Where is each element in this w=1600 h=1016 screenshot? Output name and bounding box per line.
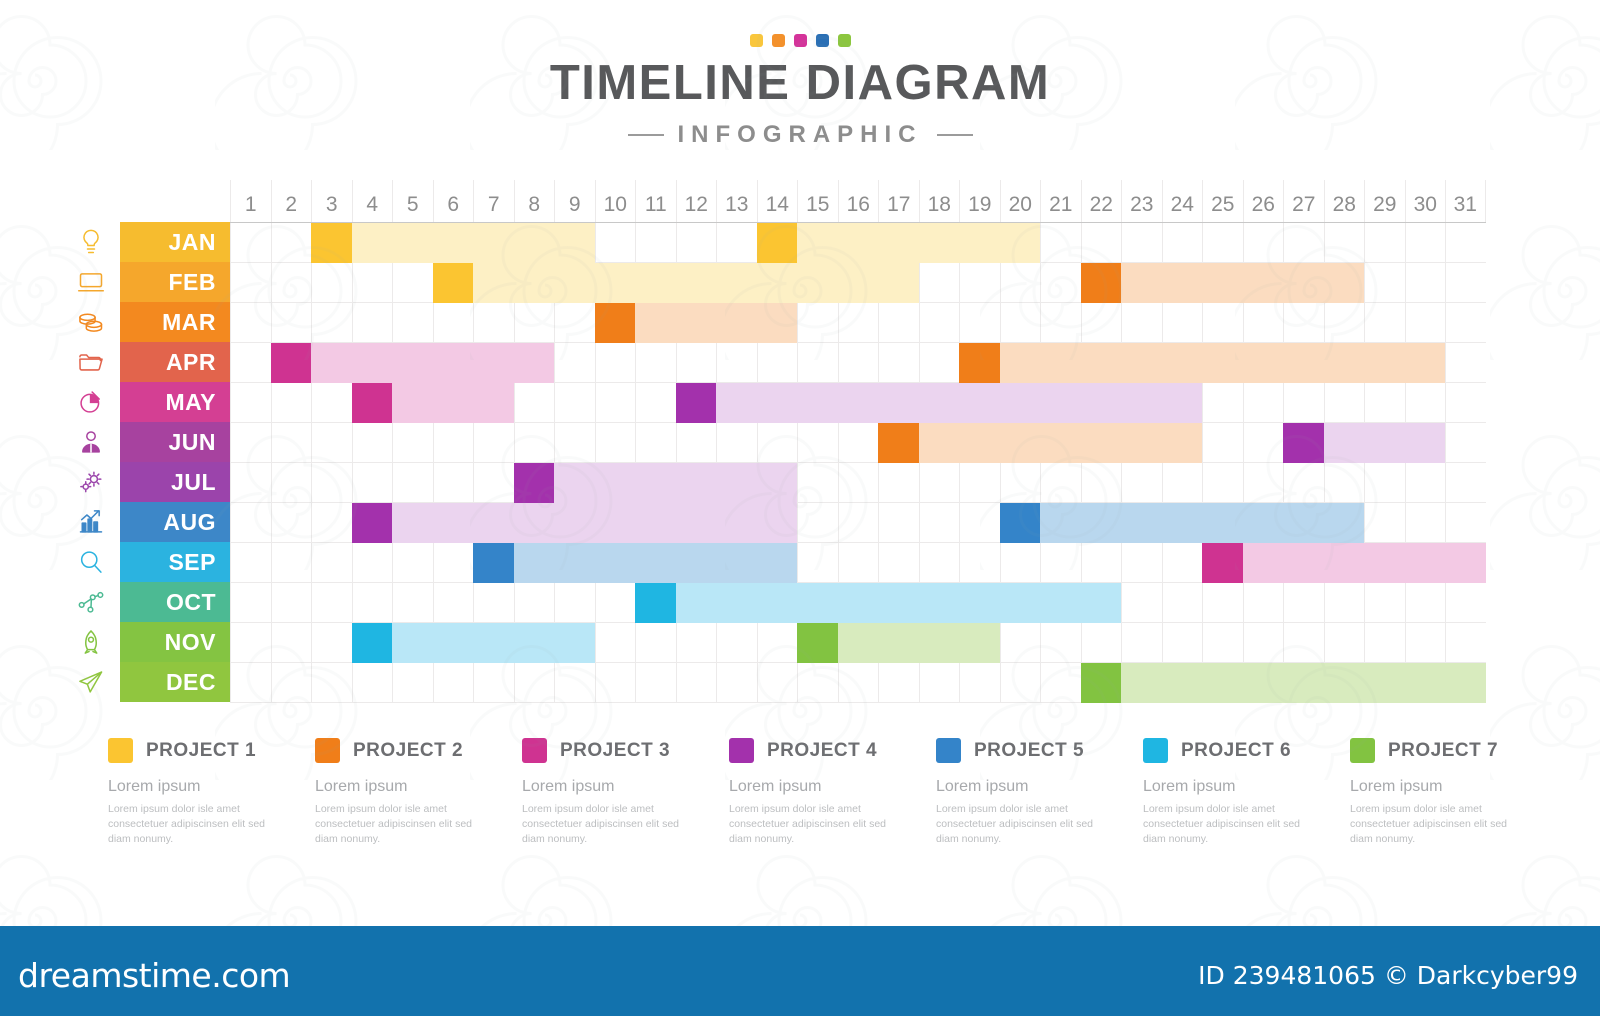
grid-cell[interactable] (757, 543, 798, 583)
grid-cell[interactable] (1445, 303, 1486, 343)
grid-cell[interactable] (1324, 663, 1365, 703)
grid-cell[interactable] (1081, 223, 1122, 263)
grid-cell[interactable] (1243, 463, 1284, 503)
grid-cell[interactable] (311, 503, 352, 543)
grid-cell[interactable] (959, 263, 1000, 303)
grid-cell[interactable] (392, 423, 433, 463)
grid-cell[interactable] (352, 223, 393, 263)
grid-cell[interactable] (676, 383, 717, 423)
grid-cell[interactable] (757, 303, 798, 343)
grid-cell[interactable] (595, 583, 636, 623)
grid-cell[interactable] (230, 463, 271, 503)
grid-cell[interactable] (433, 343, 474, 383)
grid-cell[interactable] (1405, 663, 1446, 703)
grid-cell[interactable] (1243, 343, 1284, 383)
grid-cell[interactable] (392, 303, 433, 343)
grid-cell[interactable] (1202, 383, 1243, 423)
grid-cell[interactable] (716, 463, 757, 503)
grid-cell[interactable] (433, 663, 474, 703)
grid-cell[interactable] (230, 263, 271, 303)
grid-cell[interactable] (230, 663, 271, 703)
grid-cell[interactable] (1202, 263, 1243, 303)
grid-cell[interactable] (1283, 343, 1324, 383)
grid-cell[interactable] (838, 423, 879, 463)
grid-cell[interactable] (1202, 223, 1243, 263)
grid-cell[interactable] (1364, 463, 1405, 503)
grid-cell[interactable] (514, 223, 555, 263)
grid-cell[interactable] (352, 663, 393, 703)
grid-cell[interactable] (716, 503, 757, 543)
grid-cell[interactable] (1405, 303, 1446, 343)
grid-cell[interactable] (473, 463, 514, 503)
grid-cell[interactable] (392, 223, 433, 263)
grid-cell[interactable] (1040, 383, 1081, 423)
grid-cell[interactable] (797, 303, 838, 343)
grid-cell[interactable] (311, 343, 352, 383)
grid-cell[interactable] (1202, 503, 1243, 543)
grid-cell[interactable] (595, 463, 636, 503)
grid-cell[interactable] (352, 383, 393, 423)
grid-cell[interactable] (1081, 383, 1122, 423)
grid-cell[interactable] (554, 623, 595, 663)
grid-cell[interactable] (1000, 463, 1041, 503)
grid-cell[interactable] (1081, 623, 1122, 663)
grid-cell[interactable] (230, 223, 271, 263)
grid-cell[interactable] (1121, 263, 1162, 303)
grid-cell[interactable] (554, 303, 595, 343)
grid-cell[interactable] (919, 423, 960, 463)
grid-cell[interactable] (1162, 583, 1203, 623)
grid-cell[interactable] (878, 583, 919, 623)
grid-cell[interactable] (1040, 543, 1081, 583)
grid-cell[interactable] (1324, 303, 1365, 343)
grid-cell[interactable] (352, 623, 393, 663)
grid-cell[interactable] (230, 503, 271, 543)
grid-cell[interactable] (1121, 423, 1162, 463)
grid-cell[interactable] (797, 583, 838, 623)
grid-cell[interactable] (271, 423, 312, 463)
grid-cell[interactable] (1283, 583, 1324, 623)
grid-cell[interactable] (676, 343, 717, 383)
grid-cell[interactable] (473, 303, 514, 343)
grid-cell[interactable] (676, 663, 717, 703)
grid-cell[interactable] (1081, 583, 1122, 623)
grid-cell[interactable] (595, 623, 636, 663)
grid-cell[interactable] (1324, 263, 1365, 303)
grid-cell[interactable] (1081, 423, 1122, 463)
grid-cell[interactable] (271, 303, 312, 343)
grid-cell[interactable] (878, 263, 919, 303)
legend-item-1[interactable]: PROJECT 1Lorem ipsumLorem ipsum dolor is… (108, 738, 315, 848)
grid-cell[interactable] (230, 423, 271, 463)
grid-cell[interactable] (473, 503, 514, 543)
grid-cell[interactable] (716, 663, 757, 703)
grid-cell[interactable] (1324, 503, 1365, 543)
grid-cell[interactable] (1364, 503, 1405, 543)
grid-cell[interactable] (1121, 383, 1162, 423)
grid-cell[interactable] (473, 383, 514, 423)
grid-cell[interactable] (797, 223, 838, 263)
grid-cell[interactable] (1081, 343, 1122, 383)
grid-cell[interactable] (1202, 663, 1243, 703)
grid-cell[interactable] (514, 263, 555, 303)
grid-cell[interactable] (271, 223, 312, 263)
grid-cell[interactable] (1324, 543, 1365, 583)
grid-cell[interactable] (757, 463, 798, 503)
grid-cell[interactable] (311, 583, 352, 623)
grid-cell[interactable] (271, 383, 312, 423)
grid-cell[interactable] (433, 383, 474, 423)
grid-cell[interactable] (1121, 343, 1162, 383)
grid-cell[interactable] (838, 303, 879, 343)
grid-cell[interactable] (595, 383, 636, 423)
grid-cell[interactable] (473, 583, 514, 623)
grid-cell[interactable] (1121, 583, 1162, 623)
grid-cell[interactable] (838, 503, 879, 543)
grid-cell[interactable] (716, 223, 757, 263)
grid-cell[interactable] (433, 263, 474, 303)
grid-cell[interactable] (838, 463, 879, 503)
grid-cell[interactable] (878, 503, 919, 543)
grid-cell[interactable] (554, 423, 595, 463)
grid-cell[interactable] (1202, 463, 1243, 503)
grid-cell[interactable] (1324, 623, 1365, 663)
grid-cell[interactable] (1445, 503, 1486, 543)
grid-cell[interactable] (1121, 663, 1162, 703)
grid-cell[interactable] (878, 543, 919, 583)
grid-cell[interactable] (433, 583, 474, 623)
grid-cell[interactable] (1000, 343, 1041, 383)
grid-cell[interactable] (514, 303, 555, 343)
grid-cell[interactable] (595, 503, 636, 543)
grid-cell[interactable] (635, 463, 676, 503)
grid-cell[interactable] (959, 303, 1000, 343)
grid-cell[interactable] (1445, 583, 1486, 623)
grid-cell[interactable] (1081, 463, 1122, 503)
grid-cell[interactable] (554, 583, 595, 623)
grid-cell[interactable] (392, 463, 433, 503)
grid-cell[interactable] (635, 223, 676, 263)
grid-cell[interactable] (554, 463, 595, 503)
grid-cell[interactable] (1202, 303, 1243, 343)
grid-cell[interactable] (959, 463, 1000, 503)
grid-cell[interactable] (797, 343, 838, 383)
grid-cell[interactable] (757, 623, 798, 663)
grid-cell[interactable] (1283, 223, 1324, 263)
grid-cell[interactable] (1405, 223, 1446, 263)
grid-cell[interactable] (514, 583, 555, 623)
grid-cell[interactable] (797, 543, 838, 583)
grid-cell[interactable] (1445, 343, 1486, 383)
grid-cell[interactable] (554, 543, 595, 583)
grid-cell[interactable] (1283, 543, 1324, 583)
grid-cell[interactable] (1405, 423, 1446, 463)
legend-item-6[interactable]: PROJECT 6Lorem ipsumLorem ipsum dolor is… (1143, 738, 1350, 848)
grid-cell[interactable] (1202, 583, 1243, 623)
grid-cell[interactable] (635, 423, 676, 463)
grid-cell[interactable] (716, 303, 757, 343)
grid-cell[interactable] (271, 543, 312, 583)
grid-cell[interactable] (554, 263, 595, 303)
grid-cell[interactable] (959, 343, 1000, 383)
grid-cell[interactable] (878, 223, 919, 263)
grid-cell[interactable] (595, 343, 636, 383)
grid-cell[interactable] (757, 583, 798, 623)
grid-cell[interactable] (919, 223, 960, 263)
grid-cell[interactable] (1405, 583, 1446, 623)
grid-cell[interactable] (473, 343, 514, 383)
grid-cell[interactable] (554, 383, 595, 423)
grid-cell[interactable] (433, 503, 474, 543)
grid-cell[interactable] (514, 503, 555, 543)
grid-cell[interactable] (919, 583, 960, 623)
grid-cell[interactable] (1364, 303, 1405, 343)
grid-cell[interactable] (1243, 423, 1284, 463)
grid-cell[interactable] (1162, 343, 1203, 383)
grid-cell[interactable] (311, 263, 352, 303)
grid-cell[interactable] (1081, 543, 1122, 583)
grid-cell[interactable] (433, 623, 474, 663)
grid-cell[interactable] (716, 383, 757, 423)
grid-cell[interactable] (676, 623, 717, 663)
grid-cell[interactable] (1000, 583, 1041, 623)
grid-cell[interactable] (1405, 343, 1446, 383)
grid-cell[interactable] (878, 623, 919, 663)
grid-cell[interactable] (838, 623, 879, 663)
grid-cell[interactable] (473, 663, 514, 703)
grid-cell[interactable] (1364, 583, 1405, 623)
grid-cell[interactable] (1040, 343, 1081, 383)
grid-cell[interactable] (392, 343, 433, 383)
legend-item-5[interactable]: PROJECT 5Lorem ipsumLorem ipsum dolor is… (936, 738, 1143, 848)
grid-cell[interactable] (1040, 583, 1081, 623)
grid-cell[interactable] (1000, 423, 1041, 463)
grid-cell[interactable] (676, 303, 717, 343)
grid-cell[interactable] (473, 543, 514, 583)
grid-cell[interactable] (919, 623, 960, 663)
grid-cell[interactable] (757, 223, 798, 263)
grid-cell[interactable] (878, 343, 919, 383)
grid-cell[interactable] (1162, 503, 1203, 543)
grid-cell[interactable] (595, 223, 636, 263)
grid-cell[interactable] (514, 463, 555, 503)
grid-cell[interactable] (271, 343, 312, 383)
grid-cell[interactable] (1162, 663, 1203, 703)
grid-cell[interactable] (1405, 263, 1446, 303)
grid-cell[interactable] (757, 343, 798, 383)
grid-cell[interactable] (1445, 543, 1486, 583)
grid-cell[interactable] (1162, 623, 1203, 663)
grid-cell[interactable] (271, 263, 312, 303)
grid-cell[interactable] (676, 423, 717, 463)
grid-cell[interactable] (433, 543, 474, 583)
grid-cell[interactable] (514, 423, 555, 463)
grid-cell[interactable] (271, 583, 312, 623)
grid-cell[interactable] (797, 463, 838, 503)
grid-cell[interactable] (716, 423, 757, 463)
grid-cell[interactable] (1364, 383, 1405, 423)
grid-cell[interactable] (757, 423, 798, 463)
grid-cell[interactable] (1081, 503, 1122, 543)
grid-cell[interactable] (635, 263, 676, 303)
grid-cell[interactable] (1243, 383, 1284, 423)
grid-cell[interactable] (1202, 343, 1243, 383)
grid-cell[interactable] (1445, 383, 1486, 423)
grid-cell[interactable] (311, 303, 352, 343)
grid-cell[interactable] (959, 423, 1000, 463)
grid-cell[interactable] (352, 463, 393, 503)
grid-cell[interactable] (797, 623, 838, 663)
grid-cell[interactable] (230, 543, 271, 583)
grid-cell[interactable] (878, 303, 919, 343)
grid-cell[interactable] (1121, 623, 1162, 663)
grid-cell[interactable] (230, 303, 271, 343)
grid-cell[interactable] (1081, 663, 1122, 703)
grid-cell[interactable] (352, 503, 393, 543)
grid-cell[interactable] (716, 343, 757, 383)
grid-cell[interactable] (1121, 503, 1162, 543)
grid-cell[interactable] (554, 343, 595, 383)
grid-cell[interactable] (1283, 463, 1324, 503)
grid-cell[interactable] (433, 423, 474, 463)
grid-cell[interactable] (797, 263, 838, 303)
grid-cell[interactable] (271, 623, 312, 663)
grid-cell[interactable] (392, 383, 433, 423)
grid-cell[interactable] (716, 583, 757, 623)
grid-cell[interactable] (473, 623, 514, 663)
legend-item-7[interactable]: PROJECT 7Lorem ipsumLorem ipsum dolor is… (1350, 738, 1557, 848)
grid-cell[interactable] (1283, 663, 1324, 703)
grid-cell[interactable] (1162, 263, 1203, 303)
grid-cell[interactable] (716, 623, 757, 663)
grid-cell[interactable] (1040, 623, 1081, 663)
grid-cell[interactable] (676, 263, 717, 303)
grid-cell[interactable] (1162, 223, 1203, 263)
grid-cell[interactable] (1162, 303, 1203, 343)
grid-cell[interactable] (1364, 423, 1405, 463)
grid-cell[interactable] (919, 463, 960, 503)
grid-cell[interactable] (1243, 543, 1284, 583)
grid-cell[interactable] (311, 663, 352, 703)
grid-cell[interactable] (1324, 383, 1365, 423)
grid-cell[interactable] (676, 503, 717, 543)
grid-cell[interactable] (757, 503, 798, 543)
grid-cell[interactable] (919, 343, 960, 383)
grid-cell[interactable] (1040, 303, 1081, 343)
grid-cell[interactable] (1324, 463, 1365, 503)
grid-cell[interactable] (959, 543, 1000, 583)
grid-cell[interactable] (1121, 223, 1162, 263)
grid-cell[interactable] (311, 463, 352, 503)
grid-cell[interactable] (716, 543, 757, 583)
grid-cell[interactable] (1405, 463, 1446, 503)
grid-cell[interactable] (1364, 223, 1405, 263)
grid-cell[interactable] (554, 503, 595, 543)
grid-cell[interactable] (1162, 423, 1203, 463)
grid-cell[interactable] (838, 583, 879, 623)
grid-cell[interactable] (595, 543, 636, 583)
grid-cell[interactable] (959, 663, 1000, 703)
grid-cell[interactable] (1324, 223, 1365, 263)
grid-cell[interactable] (1283, 423, 1324, 463)
grid-cell[interactable] (514, 623, 555, 663)
grid-cell[interactable] (635, 383, 676, 423)
grid-cell[interactable] (595, 303, 636, 343)
grid-cell[interactable] (1000, 383, 1041, 423)
grid-cell[interactable] (919, 663, 960, 703)
grid-cell[interactable] (919, 383, 960, 423)
grid-cell[interactable] (838, 263, 879, 303)
grid-cell[interactable] (311, 383, 352, 423)
grid-cell[interactable] (757, 383, 798, 423)
grid-cell[interactable] (554, 223, 595, 263)
grid-cell[interactable] (1243, 303, 1284, 343)
grid-cell[interactable] (311, 543, 352, 583)
grid-cell[interactable] (271, 463, 312, 503)
grid-cell[interactable] (1364, 343, 1405, 383)
grid-cell[interactable] (1121, 463, 1162, 503)
grid-cell[interactable] (676, 223, 717, 263)
grid-cell[interactable] (838, 543, 879, 583)
grid-cell[interactable] (1283, 263, 1324, 303)
grid-cell[interactable] (1040, 503, 1081, 543)
grid-cell[interactable] (271, 663, 312, 703)
grid-cell[interactable] (352, 343, 393, 383)
grid-cell[interactable] (878, 383, 919, 423)
grid-cell[interactable] (352, 543, 393, 583)
grid-cell[interactable] (1405, 503, 1446, 543)
grid-cell[interactable] (595, 263, 636, 303)
grid-cell[interactable] (1324, 343, 1365, 383)
grid-cell[interactable] (352, 263, 393, 303)
grid-cell[interactable] (797, 503, 838, 543)
grid-cell[interactable] (676, 583, 717, 623)
grid-cell[interactable] (757, 263, 798, 303)
grid-cell[interactable] (919, 543, 960, 583)
grid-cell[interactable] (838, 223, 879, 263)
grid-cell[interactable] (838, 663, 879, 703)
grid-cell[interactable] (230, 623, 271, 663)
grid-cell[interactable] (919, 303, 960, 343)
grid-cell[interactable] (1000, 223, 1041, 263)
grid-cell[interactable] (959, 623, 1000, 663)
grid-cell[interactable] (1405, 543, 1446, 583)
grid-cell[interactable] (635, 623, 676, 663)
grid-cell[interactable] (635, 543, 676, 583)
grid-cell[interactable] (959, 503, 1000, 543)
grid-cell[interactable] (1081, 263, 1122, 303)
grid-cell[interactable] (1040, 423, 1081, 463)
grid-cell[interactable] (1283, 623, 1324, 663)
grid-cell[interactable] (1405, 623, 1446, 663)
grid-cell[interactable] (635, 663, 676, 703)
grid-cell[interactable] (392, 503, 433, 543)
grid-cell[interactable] (1162, 383, 1203, 423)
grid-cell[interactable] (473, 423, 514, 463)
grid-cell[interactable] (352, 303, 393, 343)
grid-cell[interactable] (919, 263, 960, 303)
grid-cell[interactable] (392, 543, 433, 583)
grid-cell[interactable] (595, 663, 636, 703)
grid-cell[interactable] (1243, 503, 1284, 543)
grid-cell[interactable] (595, 423, 636, 463)
grid-cell[interactable] (716, 263, 757, 303)
grid-cell[interactable] (676, 463, 717, 503)
grid-cell[interactable] (1324, 423, 1365, 463)
grid-cell[interactable] (1202, 623, 1243, 663)
grid-cell[interactable] (230, 383, 271, 423)
grid-cell[interactable] (1445, 663, 1486, 703)
